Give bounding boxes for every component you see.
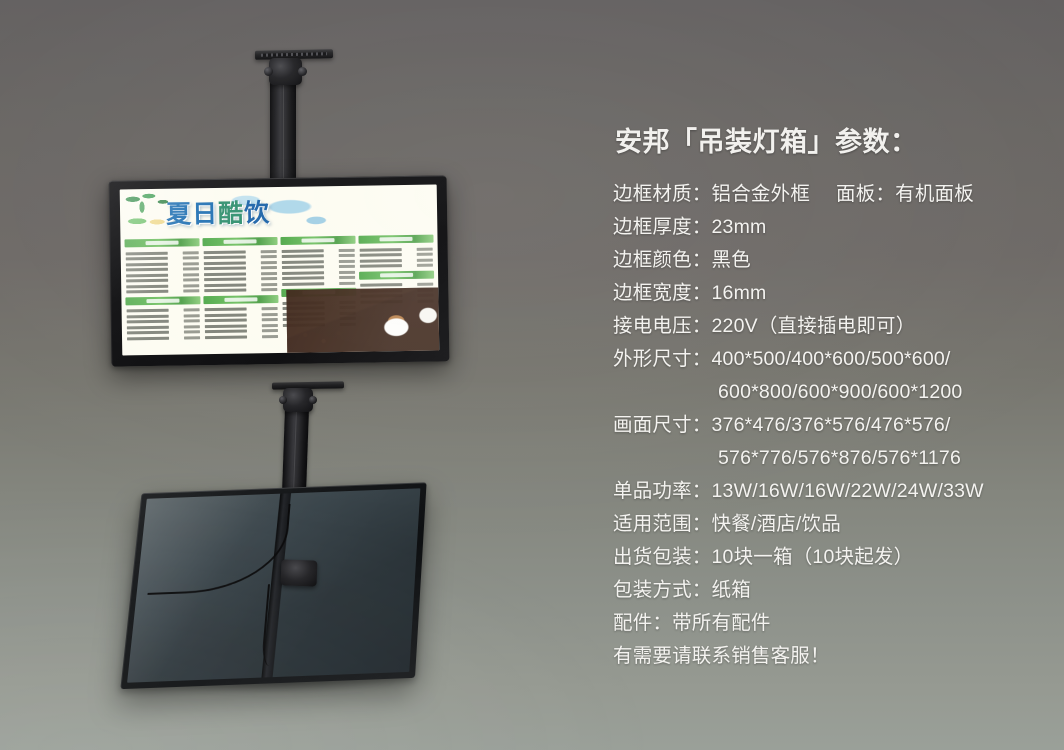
spec-value: 纸箱 [712,579,751,601]
menu-item-name [204,250,246,254]
menu-item-price [261,250,277,253]
swivel-bolt-left [264,67,273,76]
menu-item-name [127,331,169,335]
menu-section-header [358,235,433,244]
panel-mount-clamp [281,559,318,586]
menu-item-row [204,249,277,254]
menu-item-row [282,264,355,269]
spec-line: 配件：带所有配件 [613,607,1053,640]
menu-item-price [339,254,355,257]
menu-item-name [126,262,168,266]
spec-label: 接电电压： [613,310,712,343]
menu-item-name [127,314,169,318]
spec-value: 23mm [712,216,767,238]
lower-mount-swivel-joint [283,388,313,412]
menu-item-rows [126,307,202,341]
menu-item-price [183,278,199,281]
menu-item-name [282,265,324,269]
menu-item-price [262,307,278,310]
spec-line: 边框厚度：23mm [613,211,1053,244]
menu-item-price [262,313,278,316]
menu-item-price [184,336,200,339]
lower-swivel-bolt-right [309,396,317,404]
rear-panel-surface [127,488,420,682]
menu-item-name [204,272,246,276]
spec-label: 边框宽度： [613,277,712,310]
menu-section-header [359,270,434,279]
menu-item-price [184,308,200,311]
menu-item-row [204,266,277,271]
menu-item-row [282,248,355,253]
menu-headline-part3: 饮 [244,198,270,227]
menu-item-row [282,253,355,258]
menu-item-name [126,284,168,288]
menu-item-price [417,247,433,250]
menu-headline: 夏日酷饮 [166,193,271,231]
spec-line: 适用范围：快餐/酒店/饮品 [613,508,1053,541]
menu-item-price [417,264,433,267]
menu-item-name [282,271,324,275]
menu-item-name [360,264,402,268]
menu-item-row [282,275,355,280]
menu-item-name [127,320,169,324]
spec-label: 包装方式： [613,574,712,607]
spec-value: 376*476/376*576/476*576/ [712,414,951,436]
menu-item-name [282,260,324,264]
menu-item-row [126,261,199,266]
menu-item-name [127,325,169,329]
menu-item-price [184,330,200,333]
menu-item-price [183,267,199,270]
menu-item-row [126,250,199,255]
spec-label: 边框颜色： [613,244,712,277]
spec-label-secondary: 面板： [836,178,895,211]
menu-item-name [205,319,247,323]
menu-item-name [205,308,247,312]
menu-item-price [339,248,355,251]
menu-item-price [183,273,199,276]
spec-line: 包装方式：纸箱 [613,574,1053,607]
menu-section-header [202,237,277,246]
menu-item-name [282,276,324,280]
menu-item-price [417,258,433,261]
menu-item-name [360,259,402,263]
spec-value: 16mm [712,282,767,304]
menu-item-price [183,284,199,287]
menu-item-row [360,247,433,252]
menu-item-row [360,258,433,263]
spec-value: 13W/16W/16W/22W/24W/33W [712,480,984,502]
spec-value: 220V（直接插电即可） [712,315,916,337]
menu-item-row [360,282,433,287]
menu-item-price [262,329,278,332]
spec-value: 600*800/600*900/600*1200 [718,381,962,403]
spec-label: 外形尺寸： [613,343,712,376]
spec-value: 黑色 [712,249,751,271]
menu-column [202,237,279,354]
menu-item-name [282,282,324,286]
spec-line: 600*800/600*900/600*1200 [613,376,1053,409]
menu-item-row [126,278,199,283]
spec-value: 10块一箱（10块起发） [712,546,914,568]
menu-item-name [204,267,246,271]
menu-item-row [204,288,277,293]
menu-item-row [127,330,200,335]
menu-item-row [205,323,278,328]
menu-item-row [127,335,200,340]
menu-item-rows [281,247,357,286]
menu-item-row [204,260,277,265]
menu-item-price [183,289,199,292]
menu-item-rows [203,248,279,293]
menu-headline-part2: 酷 [218,199,244,228]
menu-item-row [205,334,278,339]
spec-label: 适用范围： [613,508,712,541]
spec-value: 快餐/酒店/饮品 [712,513,841,535]
page-title: 安邦「吊装灯箱」参数： [615,126,1053,160]
spec-line: 边框材质：铝合金外框面板：有机面板 [613,178,1053,211]
menu-item-name [205,335,247,339]
menu-item-rows [204,306,280,340]
menu-item-row [204,271,277,276]
menu-column [124,238,201,355]
menu-section-header [124,238,199,247]
menu-item-row [127,313,200,318]
menu-item-name [126,279,168,283]
spec-label: 边框材质： [613,178,712,211]
ceiling-mount-swivel-joint [269,58,302,85]
spec-line: 边框颜色：黑色 [613,244,1053,277]
spec-label: 边框厚度： [613,211,712,244]
menu-item-name [360,248,402,252]
menu-item-row [205,312,278,317]
spec-line: 外形尺寸：400*500/400*600/500*600/ [613,343,1053,376]
power-cable [148,504,291,595]
ceiling-mount-drop-tube [270,82,296,182]
coffee-photo [286,287,439,352]
menu-item-row [282,259,355,264]
spec-label: 单品功率： [613,475,712,508]
menu-section-header [203,295,278,304]
menu-item-name [126,273,168,277]
menu-item-price [339,281,355,284]
spec-line: 画面尺寸：376*476/376*576/476*576/ [613,409,1053,442]
menu-item-row [126,267,199,272]
menu-item-name [127,336,169,340]
menu-item-row [127,324,200,329]
menu-item-price [261,277,277,280]
menu-item-price [339,265,355,268]
spec-value: 576*776/576*876/576*1176 [718,447,961,469]
menu-item-rows [125,249,201,294]
menu-item-price [261,283,277,286]
menu-item-row [126,289,199,294]
spec-value: 有需要请联系销售客服！ [613,645,830,667]
menu-item-name [205,330,247,334]
spec-line: 边框宽度：16mm [613,277,1053,310]
menu-item-price [262,335,278,338]
menu-item-price [184,314,200,317]
menu-item-price [417,283,433,286]
specification-panel: 安邦「吊装灯箱」参数： 边框材质：铝合金外框面板：有机面板边框厚度：23mm边框… [613,126,1053,673]
menu-section-header [125,296,200,305]
menu-item-name [205,313,247,317]
menu-item-row [126,272,199,277]
menu-item-row [126,283,199,288]
menu-item-price [261,255,277,258]
swivel-bolt-right [298,67,307,76]
menu-item-price [183,262,199,265]
menu-item-name [282,254,324,258]
menu-item-name [360,283,402,287]
spec-label: 画面尺寸： [613,409,712,442]
menu-item-price [261,272,277,275]
menu-item-price [261,288,277,291]
menu-item-row [360,263,433,268]
menu-artwork: 夏日酷饮 [120,185,440,356]
menu-item-name [126,268,168,272]
spec-value-secondary: 有机面板 [895,183,974,205]
menu-item-row [126,256,199,261]
menu-item-name [204,283,246,287]
menu-item-name [205,324,247,328]
menu-item-price [262,324,278,327]
menu-item-rows [359,246,434,269]
menu-item-price [339,259,355,262]
menu-item-price [183,256,199,259]
spec-value: 带所有配件 [672,612,771,634]
menu-item-row [205,329,278,334]
menu-item-name [204,261,246,265]
spec-line: 有需要请联系销售客服！ [613,640,1053,673]
menu-item-row [204,255,277,260]
menu-item-price [184,325,200,328]
menu-item-name [282,249,324,253]
menu-item-row [205,307,278,312]
hanging-light-box-rear [120,482,426,689]
menu-item-price [339,276,355,279]
menu-item-price [183,251,199,254]
menu-headline-part1: 夏日 [166,199,218,229]
spec-value: 400*500/400*600/500*600/ [712,348,951,370]
menu-item-row [204,282,277,287]
menu-item-price [261,266,277,269]
menu-item-price [261,261,277,264]
spec-line: 576*776/576*876/576*1176 [613,442,1053,475]
menu-item-row [127,308,200,313]
menu-item-row [204,277,277,282]
menu-item-name [126,257,168,261]
menu-item-name [204,278,246,282]
menu-item-name [204,256,246,260]
product-photo-scene: 夏日酷饮 安邦「吊装灯箱」参数： 边框材质：铝合金外框面板：有机面板边框厚度：2… [0,0,1064,750]
menu-section-header [280,236,355,245]
menu-item-name [126,290,168,294]
menu-item-name [127,309,169,313]
power-cable-lower [261,583,295,666]
specification-list: 边框材质：铝合金外框面板：有机面板边框厚度：23mm边框颜色：黑色边框宽度：16… [613,178,1053,673]
lower-swivel-bolt-left [279,396,287,404]
spec-line: 单品功率：13W/16W/16W/22W/24W/33W [613,475,1053,508]
spec-value: 铝合金外框 [712,183,811,205]
spec-line: 接电电压：220V（直接插电即可） [613,310,1053,343]
menu-item-price [339,270,355,273]
menu-item-name [360,253,402,257]
spec-label: 配件： [613,607,672,640]
menu-item-row [205,318,278,323]
spec-label: 出货包装： [613,541,712,574]
menu-item-row [282,270,355,275]
menu-item-row [127,319,200,324]
menu-item-row [282,281,355,286]
menu-item-price [417,253,433,256]
menu-item-row [360,252,433,257]
spec-line: 出货包装：10块一箱（10块起发） [613,541,1053,574]
menu-header: 夏日酷饮 [120,185,438,242]
hanging-light-box-front: 夏日酷饮 [109,175,450,366]
menu-item-name [126,251,168,255]
menu-item-name [204,289,246,293]
menu-item-price [262,318,278,321]
menu-item-price [184,319,200,322]
